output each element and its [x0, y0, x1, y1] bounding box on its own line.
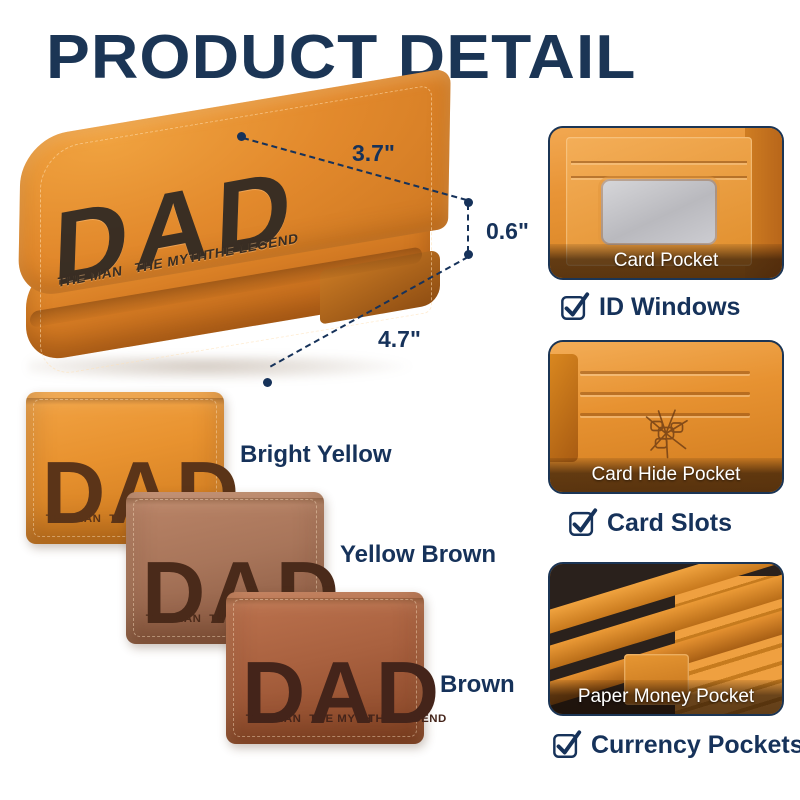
dim-label-width-top: 3.7"	[352, 140, 395, 167]
card-caption: Card Hide Pocket	[550, 458, 782, 492]
card-slot-line	[571, 176, 747, 178]
letter-sublabel: THE MAN	[246, 715, 302, 724]
feature-card-id-windows: Card Pocket	[548, 126, 784, 280]
swatch-label-brown: Brown	[440, 671, 515, 699]
dim-label-thickness: 0.6"	[486, 218, 529, 245]
checkbox-checked-icon	[560, 292, 590, 322]
swatch-label-bright-yellow: Bright Yellow	[240, 441, 392, 469]
dim-dot-length-end	[263, 378, 272, 387]
id-window	[601, 179, 717, 245]
feature-check-label: Currency Pockets	[591, 731, 800, 760]
engraved-letter-1: D THE MAN	[42, 457, 106, 529]
feature-card-currency-pockets: Paper Money Pocket	[548, 562, 784, 716]
engraved-letter-1: D THE MAN	[142, 557, 206, 629]
page-title: PRODUCT DETAIL	[46, 22, 636, 93]
letter-sublabel: THE MAN	[146, 615, 202, 624]
card-slot-line	[571, 161, 747, 163]
dim-line-thickness	[467, 204, 469, 252]
card-slot-line	[580, 371, 749, 374]
feature-card-card-slots: Card Hide Pocket	[548, 340, 784, 494]
swatch-dad-engraving: D THE MAN A THE MYTH D THE LEGEND	[242, 644, 408, 729]
letter-sublabel: THE MYTH	[309, 715, 371, 724]
engraved-letter-2: A THE MYTH	[133, 179, 211, 279]
dim-label-length: 4.7"	[378, 326, 421, 353]
letter-sublabel: THE MAN	[46, 515, 102, 524]
engraved-letter-3: D THE LEGEND	[376, 657, 440, 729]
card-caption: Paper Money Pocket	[550, 680, 782, 714]
engraved-letter-3: D THE LEGEND	[214, 164, 292, 264]
card-caption: Card Pocket	[550, 244, 782, 278]
engraved-letter-1: D THE MAN	[52, 194, 130, 294]
checkbox-checked-icon	[568, 508, 598, 538]
feature-check-id-windows: ID Windows	[560, 292, 740, 322]
side-pocket	[550, 354, 578, 462]
feature-check-card-slots: Card Slots	[568, 508, 732, 538]
swatch-wallet-brown: D THE MAN A THE MYTH D THE LEGEND	[226, 592, 424, 744]
engraved-letter-2: A THE MYTH	[309, 657, 373, 729]
swatch-label-yellow-brown: Yellow Brown	[340, 541, 496, 569]
engraved-letter-1: D THE MAN	[242, 657, 306, 729]
product-detail-infographic: PRODUCT DETAIL D THE MAN A THE MYTH D TH…	[0, 0, 800, 800]
card-slot-line	[580, 392, 749, 395]
letter-sublabel: THE LEGEND	[368, 715, 447, 724]
checkbox-checked-icon	[552, 730, 582, 760]
feature-check-label: ID Windows	[599, 293, 740, 322]
feature-check-label: Card Slots	[607, 509, 732, 538]
feature-check-currency-pockets: Currency Pockets	[552, 730, 800, 760]
